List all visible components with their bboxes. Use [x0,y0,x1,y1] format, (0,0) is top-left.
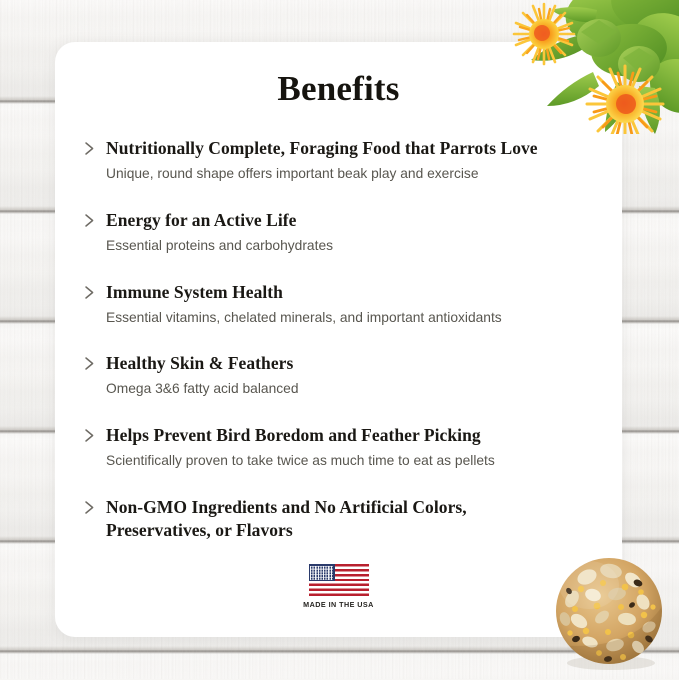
benefit-heading: Immune System Health [106,281,592,304]
benefit-heading: Healthy Skin & Feathers [106,352,592,375]
benefit-heading: Nutritionally Complete, Foraging Food th… [106,137,592,160]
chevron-right-icon [83,211,97,230]
benefit-subtext: Omega 3&6 fatty acid balanced [106,379,592,400]
made-in-usa-caption: MADE IN THE USA [303,600,374,609]
benefit-heading: Non-GMO Ingredients and No Artificial Co… [106,496,506,542]
chevron-right-icon [83,354,97,373]
chevron-right-icon [83,426,97,445]
chevron-right-icon [83,283,97,302]
benefit-heading: Energy for an Active Life [106,209,592,232]
flag-canton-stars [309,564,335,581]
benefit-list: Nutritionally Complete, Foraging Food th… [55,137,622,542]
benefit-subtext: Essential vitamins, chelated minerals, a… [106,308,592,329]
benefit-text-block: Energy for an Active Life Essential prot… [106,209,592,257]
benefit-heading: Helps Prevent Bird Boredom and Feather P… [106,424,592,447]
made-in-usa-badge: MADE IN THE USA [55,564,622,609]
list-item: Non-GMO Ingredients and No Artificial Co… [83,496,592,542]
list-item: Immune System Health Essential vitamins,… [83,281,592,329]
benefit-text-block: Helps Prevent Bird Boredom and Feather P… [106,424,592,472]
list-item: Healthy Skin & Feathers Omega 3&6 fatty … [83,352,592,400]
page-title: Benefits [55,69,622,109]
benefit-text-block: Immune System Health Essential vitamins,… [106,281,592,329]
list-item: Energy for an Active Life Essential prot… [83,209,592,257]
chevron-right-icon [83,498,97,517]
benefit-subtext: Scientifically proven to take twice as m… [106,451,592,472]
benefits-card: Benefits Nutritionally Complete, Foragin… [55,42,622,637]
benefit-text-block: Nutritionally Complete, Foraging Food th… [106,137,592,185]
benefit-text-block: Healthy Skin & Feathers Omega 3&6 fatty … [106,352,592,400]
benefit-text-block: Non-GMO Ingredients and No Artificial Co… [106,496,592,542]
list-item: Nutritionally Complete, Foraging Food th… [83,137,592,185]
chevron-right-icon [83,139,97,158]
benefit-subtext: Essential proteins and carbohydrates [106,236,592,257]
usa-flag-icon [309,564,369,596]
benefit-subtext: Unique, round shape offers important bea… [106,164,592,185]
list-item: Helps Prevent Bird Boredom and Feather P… [83,424,592,472]
